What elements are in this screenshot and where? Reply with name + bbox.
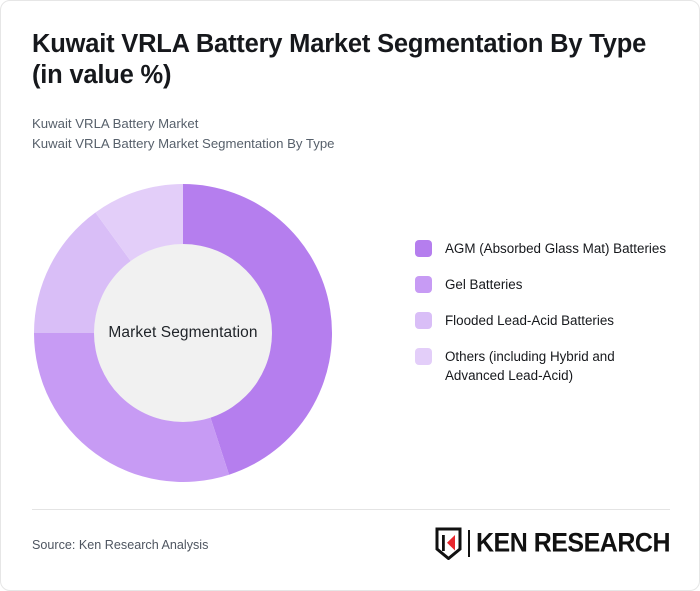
donut-center-hole (94, 244, 272, 422)
legend-item[interactable]: Flooded Lead-Acid Batteries (415, 311, 677, 330)
page-title: Kuwait VRLA Battery Market Segmentation … (32, 29, 656, 91)
chart-area: Market Segmentation AGM (Absorbed Glass … (1, 161, 700, 506)
logo-wordmark: KEN RESEARCH (476, 528, 670, 559)
legend-label: Flooded Lead-Acid Batteries (445, 311, 614, 330)
legend-swatch (415, 240, 432, 257)
brand-logo: KEN RESEARCH (434, 525, 670, 561)
legend-label: AGM (Absorbed Glass Mat) Batteries (445, 239, 666, 258)
chart-legend: AGM (Absorbed Glass Mat) BatteriesGel Ba… (415, 239, 677, 402)
subtitle-line-2: Kuwait VRLA Battery Market Segmentation … (32, 134, 652, 154)
legend-swatch (415, 348, 432, 365)
subtitle-block: Kuwait VRLA Battery Market Kuwait VRLA B… (32, 114, 652, 153)
subtitle-line-1: Kuwait VRLA Battery Market (32, 114, 652, 134)
ken-research-k-mark-icon (434, 527, 463, 560)
legend-item[interactable]: Others (including Hybrid and Advanced Le… (415, 347, 677, 385)
legend-item[interactable]: AGM (Absorbed Glass Mat) Batteries (415, 239, 677, 258)
footer-divider (32, 509, 670, 510)
legend-swatch (415, 276, 432, 293)
donut-chart: Market Segmentation (34, 184, 332, 482)
donut-svg (34, 184, 332, 482)
source-note: Source: Ken Research Analysis (32, 538, 208, 552)
logo-divider (468, 530, 470, 557)
legend-label: Gel Batteries (445, 275, 522, 294)
legend-item[interactable]: Gel Batteries (415, 275, 677, 294)
legend-label: Others (including Hybrid and Advanced Le… (445, 347, 677, 385)
chart-card: Kuwait VRLA Battery Market Segmentation … (0, 0, 700, 591)
legend-swatch (415, 312, 432, 329)
